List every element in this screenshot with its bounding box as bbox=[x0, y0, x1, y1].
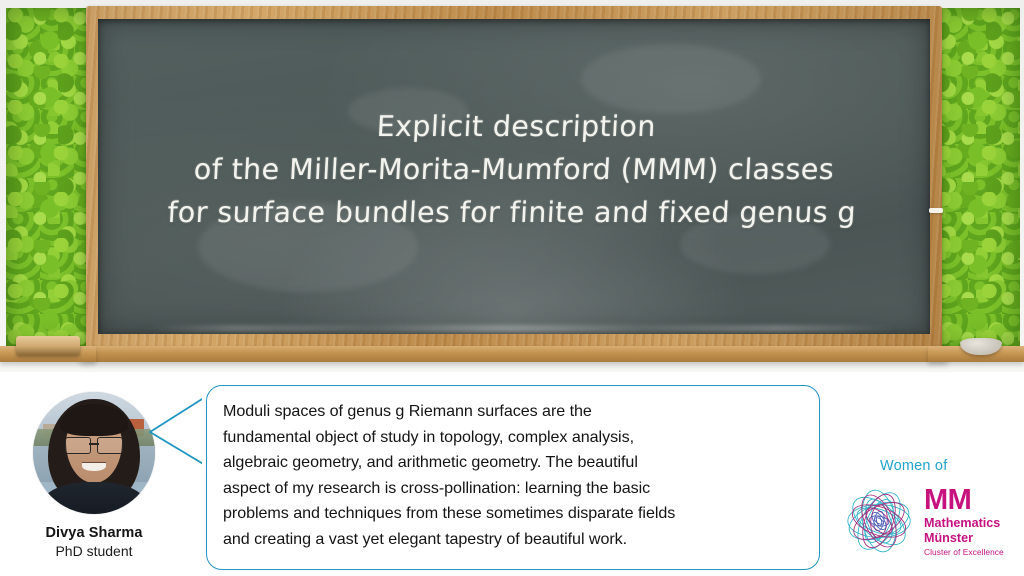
women-of-mm-logo: Women of bbox=[836, 458, 1010, 566]
eraser-icon bbox=[16, 336, 80, 355]
chalkboard-frame: Explicit description of the Miller-Morit… bbox=[86, 6, 942, 350]
chalk-stick-icon bbox=[929, 208, 943, 213]
chalkboard-surface: Explicit description of the Miller-Morit… bbox=[98, 19, 930, 334]
logo-women-of-label: Women of bbox=[880, 458, 947, 474]
person-name: Divya Sharma bbox=[14, 525, 174, 541]
board-title: Explicit description of the Miller-Morit… bbox=[98, 105, 930, 234]
speech-bubble: Moduli spaces of genus g Riemann surface… bbox=[206, 385, 820, 570]
person-role: PhD student bbox=[14, 543, 174, 559]
speech-bubble-tail bbox=[140, 392, 212, 470]
info-panel: Divya Sharma PhD student Moduli spaces o… bbox=[0, 372, 1024, 576]
moss-panel-right bbox=[934, 8, 1020, 348]
chalkboard-ledge bbox=[80, 346, 948, 362]
avatar bbox=[33, 392, 155, 514]
slide-root: Explicit description of the Miller-Morit… bbox=[0, 0, 1024, 576]
logo-cluster-tagline: Cluster of Excellence bbox=[924, 547, 1004, 557]
logo-mm-mark: MM bbox=[924, 486, 971, 515]
quote-text: Moduli spaces of genus g Riemann surface… bbox=[223, 399, 803, 553]
logo-institute-name: Mathematics Münster bbox=[924, 516, 1000, 545]
chalk-dust bbox=[148, 325, 897, 332]
moss-panel-left bbox=[6, 8, 92, 348]
spirograph-icon bbox=[838, 480, 920, 562]
chalkboard-scene: Explicit description of the Miller-Morit… bbox=[0, 0, 1024, 372]
